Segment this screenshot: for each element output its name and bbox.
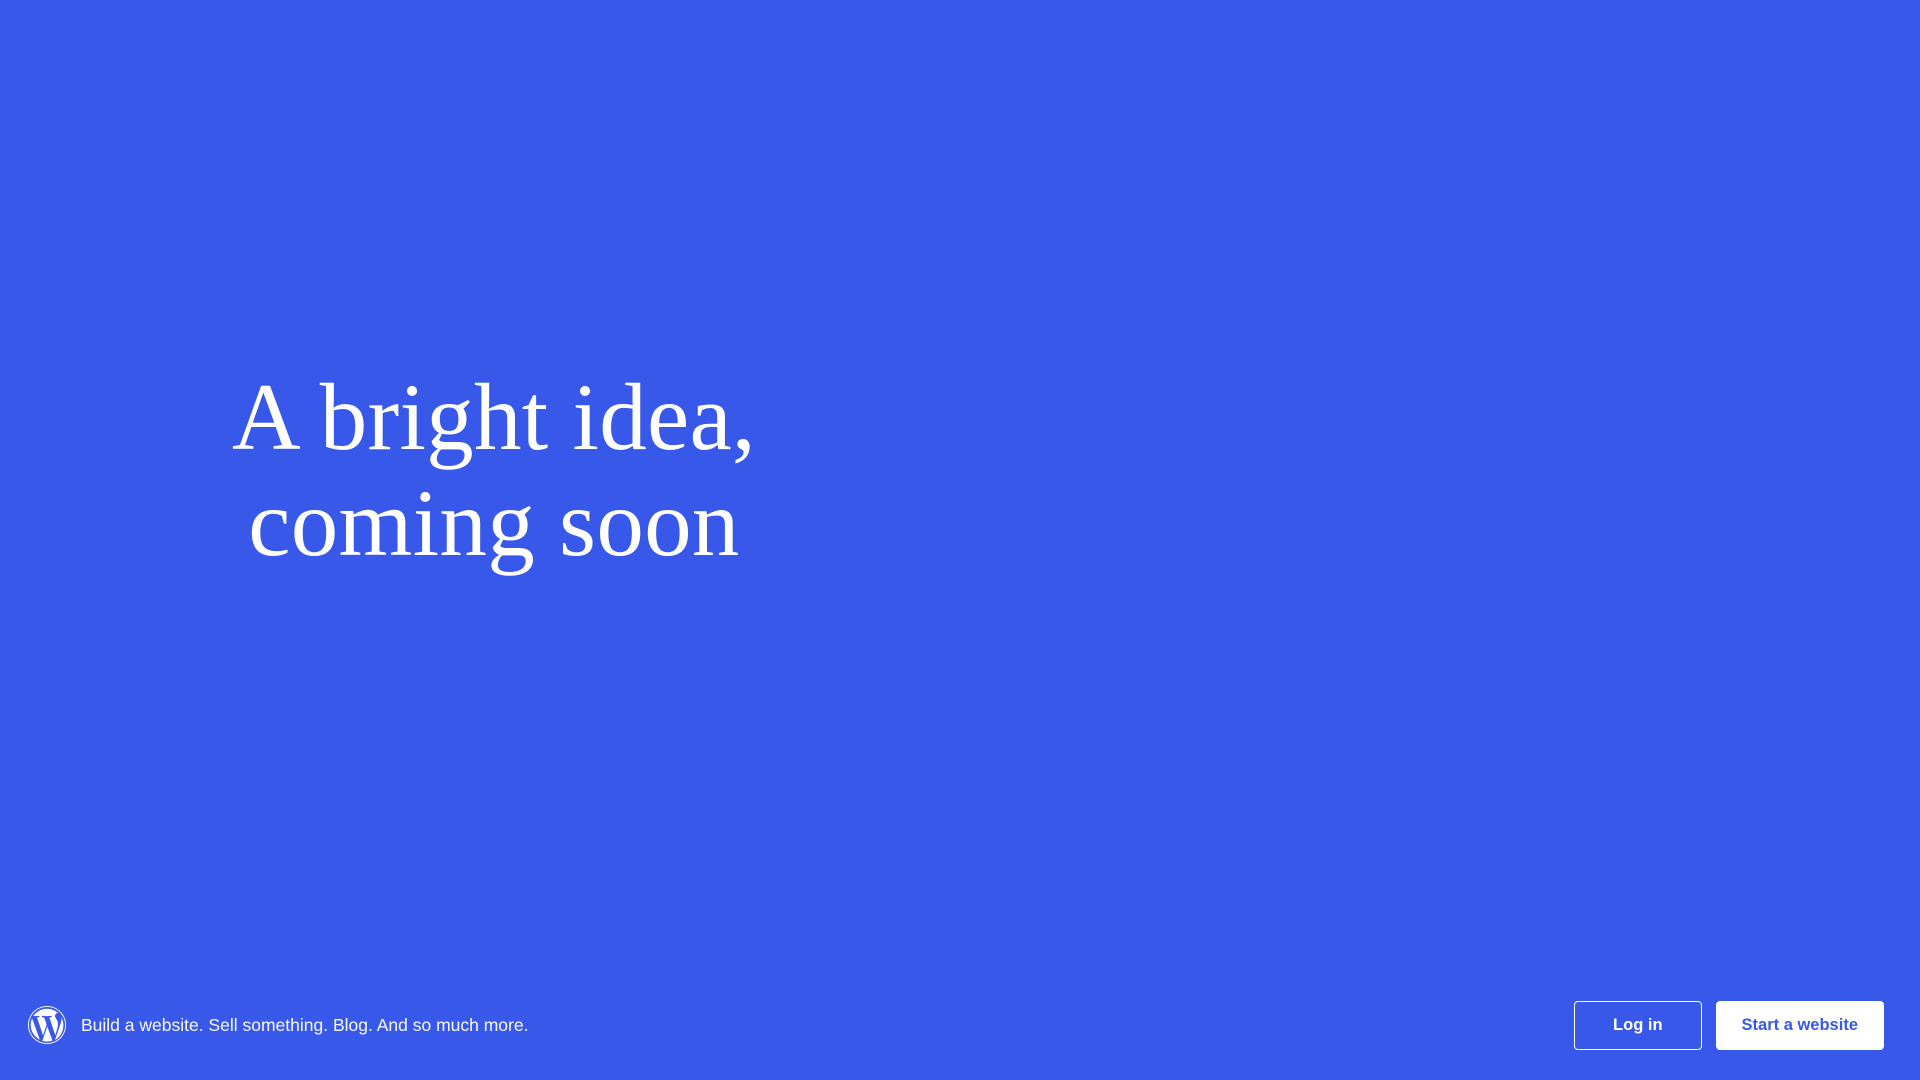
footer-actions: Log in Start a website	[1574, 1001, 1884, 1050]
login-button[interactable]: Log in	[1574, 1001, 1701, 1050]
hero-text-block: A bright idea, coming soon	[112, 364, 876, 577]
headline-line-1: A bright idea,	[232, 364, 756, 470]
footer-tagline: Build a website. Sell something. Blog. A…	[81, 1015, 528, 1036]
hero-section: A bright idea, coming soon	[0, 0, 1920, 1000]
start-a-website-button[interactable]: Start a website	[1716, 1001, 1884, 1050]
headline-line-2: coming soon	[248, 470, 739, 576]
wordpress-logo-icon[interactable]	[28, 1006, 66, 1044]
footer-branding: Build a website. Sell something. Blog. A…	[28, 1006, 1574, 1044]
footer-bar: Build a website. Sell something. Blog. A…	[0, 970, 1920, 1080]
